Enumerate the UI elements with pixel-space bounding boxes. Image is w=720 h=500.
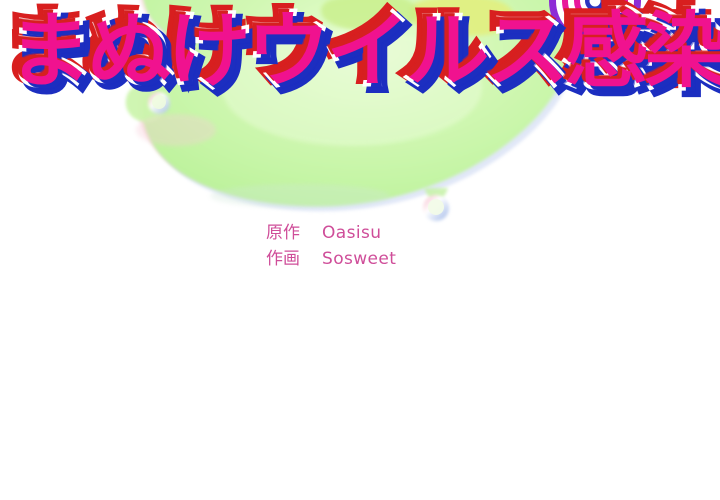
credit-artist-name: Sosweet [322, 246, 396, 272]
credit-row-art: 作画 Sosweet [266, 246, 396, 272]
credit-role-label: 原作 [266, 220, 322, 246]
credits-block: 原作 Oasisu 作画 Sosweet [266, 220, 396, 272]
credit-role-label: 作画 [266, 246, 322, 272]
title-block: まぬけウイルス感染中 まぬけウイルス感染中 まぬけウイルス感染中 [0, 4, 720, 108]
page-title: まぬけウイルス感染中 [8, 4, 720, 100]
title-card-page: まぬけウイルス感染中 まぬけウイルス感染中 まぬけウイルス感染中 原作 Oasi… [0, 0, 720, 500]
credit-author-name: Oasisu [322, 220, 381, 246]
credit-row-original: 原作 Oasisu [266, 220, 396, 246]
droplet-bottom-center [423, 188, 449, 221]
